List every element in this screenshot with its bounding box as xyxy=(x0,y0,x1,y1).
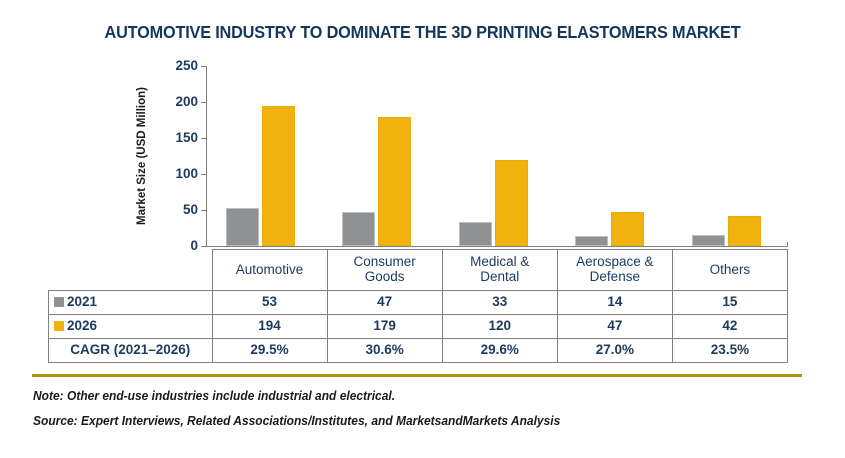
table-cell: 53 xyxy=(212,291,327,315)
bar-group xyxy=(322,66,438,246)
table-row: 20215347331415 xyxy=(49,291,788,315)
table-cell: 29.5% xyxy=(212,339,327,363)
bar-2021-automotive[interactable] xyxy=(226,208,259,246)
footer-source: Source: Expert Interviews, Related Assoc… xyxy=(33,414,560,428)
table-cell: 23.5% xyxy=(672,339,787,363)
table-row-label-text: 2021 xyxy=(67,294,97,309)
table-body: AutomotiveConsumerGoodsMedical &DentalAe… xyxy=(49,250,788,363)
table-header-others: Others xyxy=(672,250,787,291)
y-axis-title-text: Market Size (USD Million) xyxy=(136,66,148,246)
footer-divider xyxy=(32,374,802,377)
legend-swatch-2021 xyxy=(54,297,64,307)
bar-group xyxy=(555,66,671,246)
bar-2021-consumer-goods[interactable] xyxy=(342,212,375,246)
table-row-label: 2026 xyxy=(49,315,213,339)
plot-area xyxy=(206,66,788,246)
x-axis-line xyxy=(206,246,788,247)
table-cell: 47 xyxy=(557,315,672,339)
table-row-label-text: 2026 xyxy=(67,318,97,333)
table-cell: 42 xyxy=(672,315,787,339)
bar-group xyxy=(439,66,555,246)
table-cell: 120 xyxy=(442,315,557,339)
table-row: CAGR (2021–2026)29.5%30.6%29.6%27.0%23.5… xyxy=(49,339,788,363)
table-row-label: CAGR (2021–2026) xyxy=(49,339,213,363)
bar-2026-aerospace-defense[interactable] xyxy=(611,212,644,246)
table-row-label-text: CAGR (2021–2026) xyxy=(70,342,190,357)
bar-2026-consumer-goods[interactable] xyxy=(378,117,411,246)
table-header-consumer-goods: ConsumerGoods xyxy=(327,250,442,291)
legend-swatch-2026 xyxy=(54,321,64,331)
table-cell: 30.6% xyxy=(327,339,442,363)
table-cell: 47 xyxy=(327,291,442,315)
bar-2026-medical-dental[interactable] xyxy=(495,160,528,246)
table-cell: 33 xyxy=(442,291,557,315)
y-axis-tick-label: 250 xyxy=(158,59,198,73)
bar-2026-automotive[interactable] xyxy=(262,106,295,246)
y-axis-title: Market Size (USD Million) xyxy=(136,0,150,66)
bar-group xyxy=(206,66,322,246)
bar-2021-others[interactable] xyxy=(692,235,725,246)
table-row-label: 2021 xyxy=(49,291,213,315)
table-cell: 194 xyxy=(212,315,327,339)
bar-2026-others[interactable] xyxy=(728,216,761,246)
table-cell: 14 xyxy=(557,291,672,315)
y-axis-tick-label: 150 xyxy=(158,131,198,145)
data-table: AutomotiveConsumerGoodsMedical &DentalAe… xyxy=(48,249,788,363)
table-header-row: AutomotiveConsumerGoodsMedical &DentalAe… xyxy=(49,250,788,291)
table-header-automotive: Automotive xyxy=(212,250,327,291)
table-corner-cell xyxy=(49,250,213,291)
y-axis-tick-label: 100 xyxy=(158,167,198,181)
table-row: 20261941791204742 xyxy=(49,315,788,339)
bar-group xyxy=(672,66,788,246)
y-axis-tick-label: 200 xyxy=(158,95,198,109)
table-header-medical-dental: Medical &Dental xyxy=(442,250,557,291)
table-cell: 15 xyxy=(672,291,787,315)
bar-2021-aerospace-defense[interactable] xyxy=(575,236,608,246)
footer-note: Note: Other end-use industries include i… xyxy=(33,389,395,403)
table-cell: 27.0% xyxy=(557,339,672,363)
table-cell: 179 xyxy=(327,315,442,339)
table-cell: 29.6% xyxy=(442,339,557,363)
y-axis-tick-label: 50 xyxy=(158,203,198,217)
bar-2021-medical-dental[interactable] xyxy=(459,222,492,246)
y-axis-tick xyxy=(201,246,206,247)
table-header-aerospace-defense: Aerospace &Defense xyxy=(557,250,672,291)
